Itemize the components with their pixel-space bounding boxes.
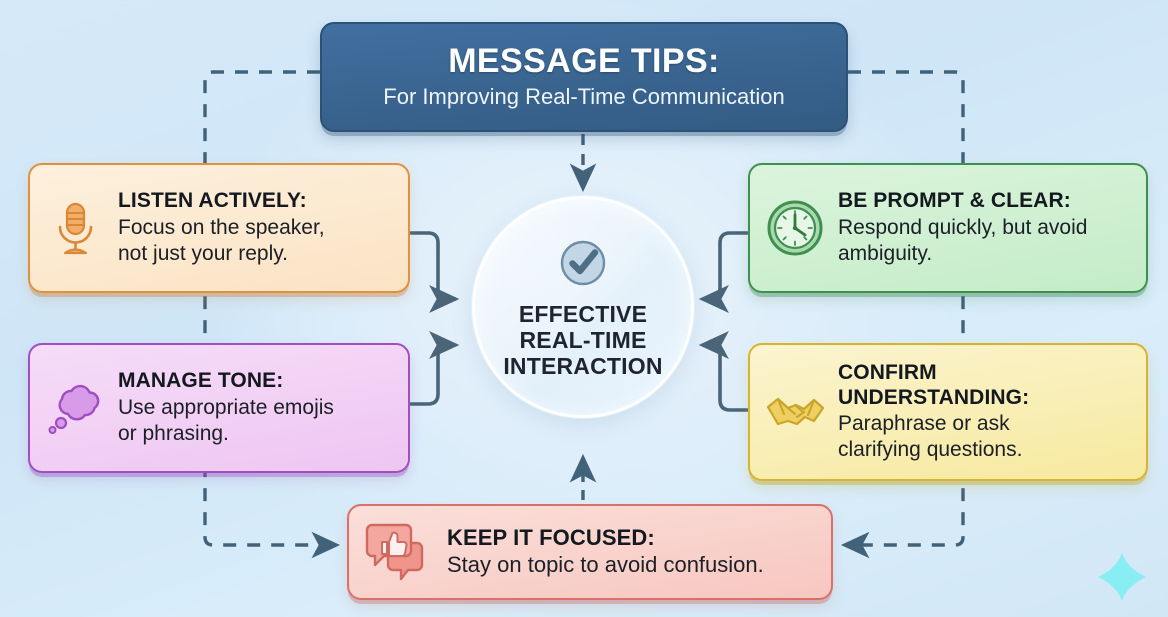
tip-card-text: LISTEN ACTIVELY: Focus on the speaker, n…: [118, 189, 394, 266]
thumbs-up-chat-icon: [363, 517, 433, 587]
tip-body-line2: clarifying questions.: [838, 437, 1132, 462]
tip-card-text: CONFIRM UNDERSTANDING: Paraphrase or ask…: [838, 361, 1132, 463]
tip-card-keep-it-focused[interactable]: KEEP IT FOCUSED: Stay on topic to avoid …: [347, 504, 833, 600]
clock-icon: [764, 197, 826, 259]
tip-body-line2: ambiguity.: [838, 241, 1132, 266]
cyan-blob-watermark: [1094, 549, 1150, 605]
tip-card-text: KEEP IT FOCUSED: Stay on topic to avoid …: [447, 525, 817, 578]
title-banner: MESSAGE TIPS: For Improving Real-Time Co…: [320, 22, 848, 132]
tip-heading: KEEP IT FOCUSED:: [447, 525, 817, 551]
tip-card-manage-tone[interactable]: MANAGE TONE: Use appropriate emojis or p…: [28, 343, 410, 473]
page-title: MESSAGE TIPS:: [448, 43, 720, 79]
tip-body-line2: or phrasing.: [118, 421, 394, 446]
tip-card-listen-actively[interactable]: LISTEN ACTIVELY: Focus on the speaker, n…: [28, 163, 410, 293]
connector-confirm-to-hub: [703, 345, 747, 410]
tip-heading: CONFIRM UNDERSTANDING:: [838, 361, 1132, 410]
tip-body-line1: Focus on the speaker,: [118, 215, 394, 240]
connector-listen-to-hub: [411, 233, 455, 299]
handshake-icon: [764, 381, 826, 443]
hub-label-line2: REAL-TIME: [503, 327, 662, 353]
hub-label-line1: EFFECTIVE: [503, 301, 662, 327]
tip-body-line1: Paraphrase or ask: [838, 411, 1132, 436]
connector-prompt-to-hub: [703, 233, 747, 299]
tip-body-line1: Respond quickly, but avoid: [838, 215, 1132, 240]
microphone-icon: [44, 197, 106, 259]
check-circle-icon: [555, 235, 611, 291]
hub-label: EFFECTIVE REAL-TIME INTERACTION: [503, 301, 662, 380]
tip-body-line1: Use appropriate emojis: [118, 395, 394, 420]
tip-card-be-prompt-and-clear[interactable]: BE PROMPT & CLEAR: Respond quickly, but …: [748, 163, 1148, 293]
tip-heading: MANAGE TONE:: [118, 369, 394, 393]
tip-card-text: BE PROMPT & CLEAR: Respond quickly, but …: [838, 189, 1132, 266]
dashed-path-left: [205, 72, 336, 545]
tip-body-line1: Stay on topic to avoid confusion.: [447, 552, 817, 579]
tip-card-text: MANAGE TONE: Use appropriate emojis or p…: [118, 369, 394, 446]
tip-body-line2: not just your reply.: [118, 241, 394, 266]
infographic-canvas: MESSAGE TIPS: For Improving Real-Time Co…: [0, 0, 1168, 617]
central-hub: EFFECTIVE REAL-TIME INTERACTION: [472, 196, 694, 418]
tip-card-confirm-understanding[interactable]: CONFIRM UNDERSTANDING: Paraphrase or ask…: [748, 343, 1148, 481]
connector-tone-to-hub: [411, 345, 455, 404]
tip-heading: BE PROMPT & CLEAR:: [838, 189, 1132, 213]
thought-bubble-icon: [44, 377, 106, 439]
tip-heading: LISTEN ACTIVELY:: [118, 189, 394, 213]
page-subtitle: For Improving Real-Time Communication: [383, 84, 784, 110]
hub-label-line3: INTERACTION: [503, 353, 662, 379]
